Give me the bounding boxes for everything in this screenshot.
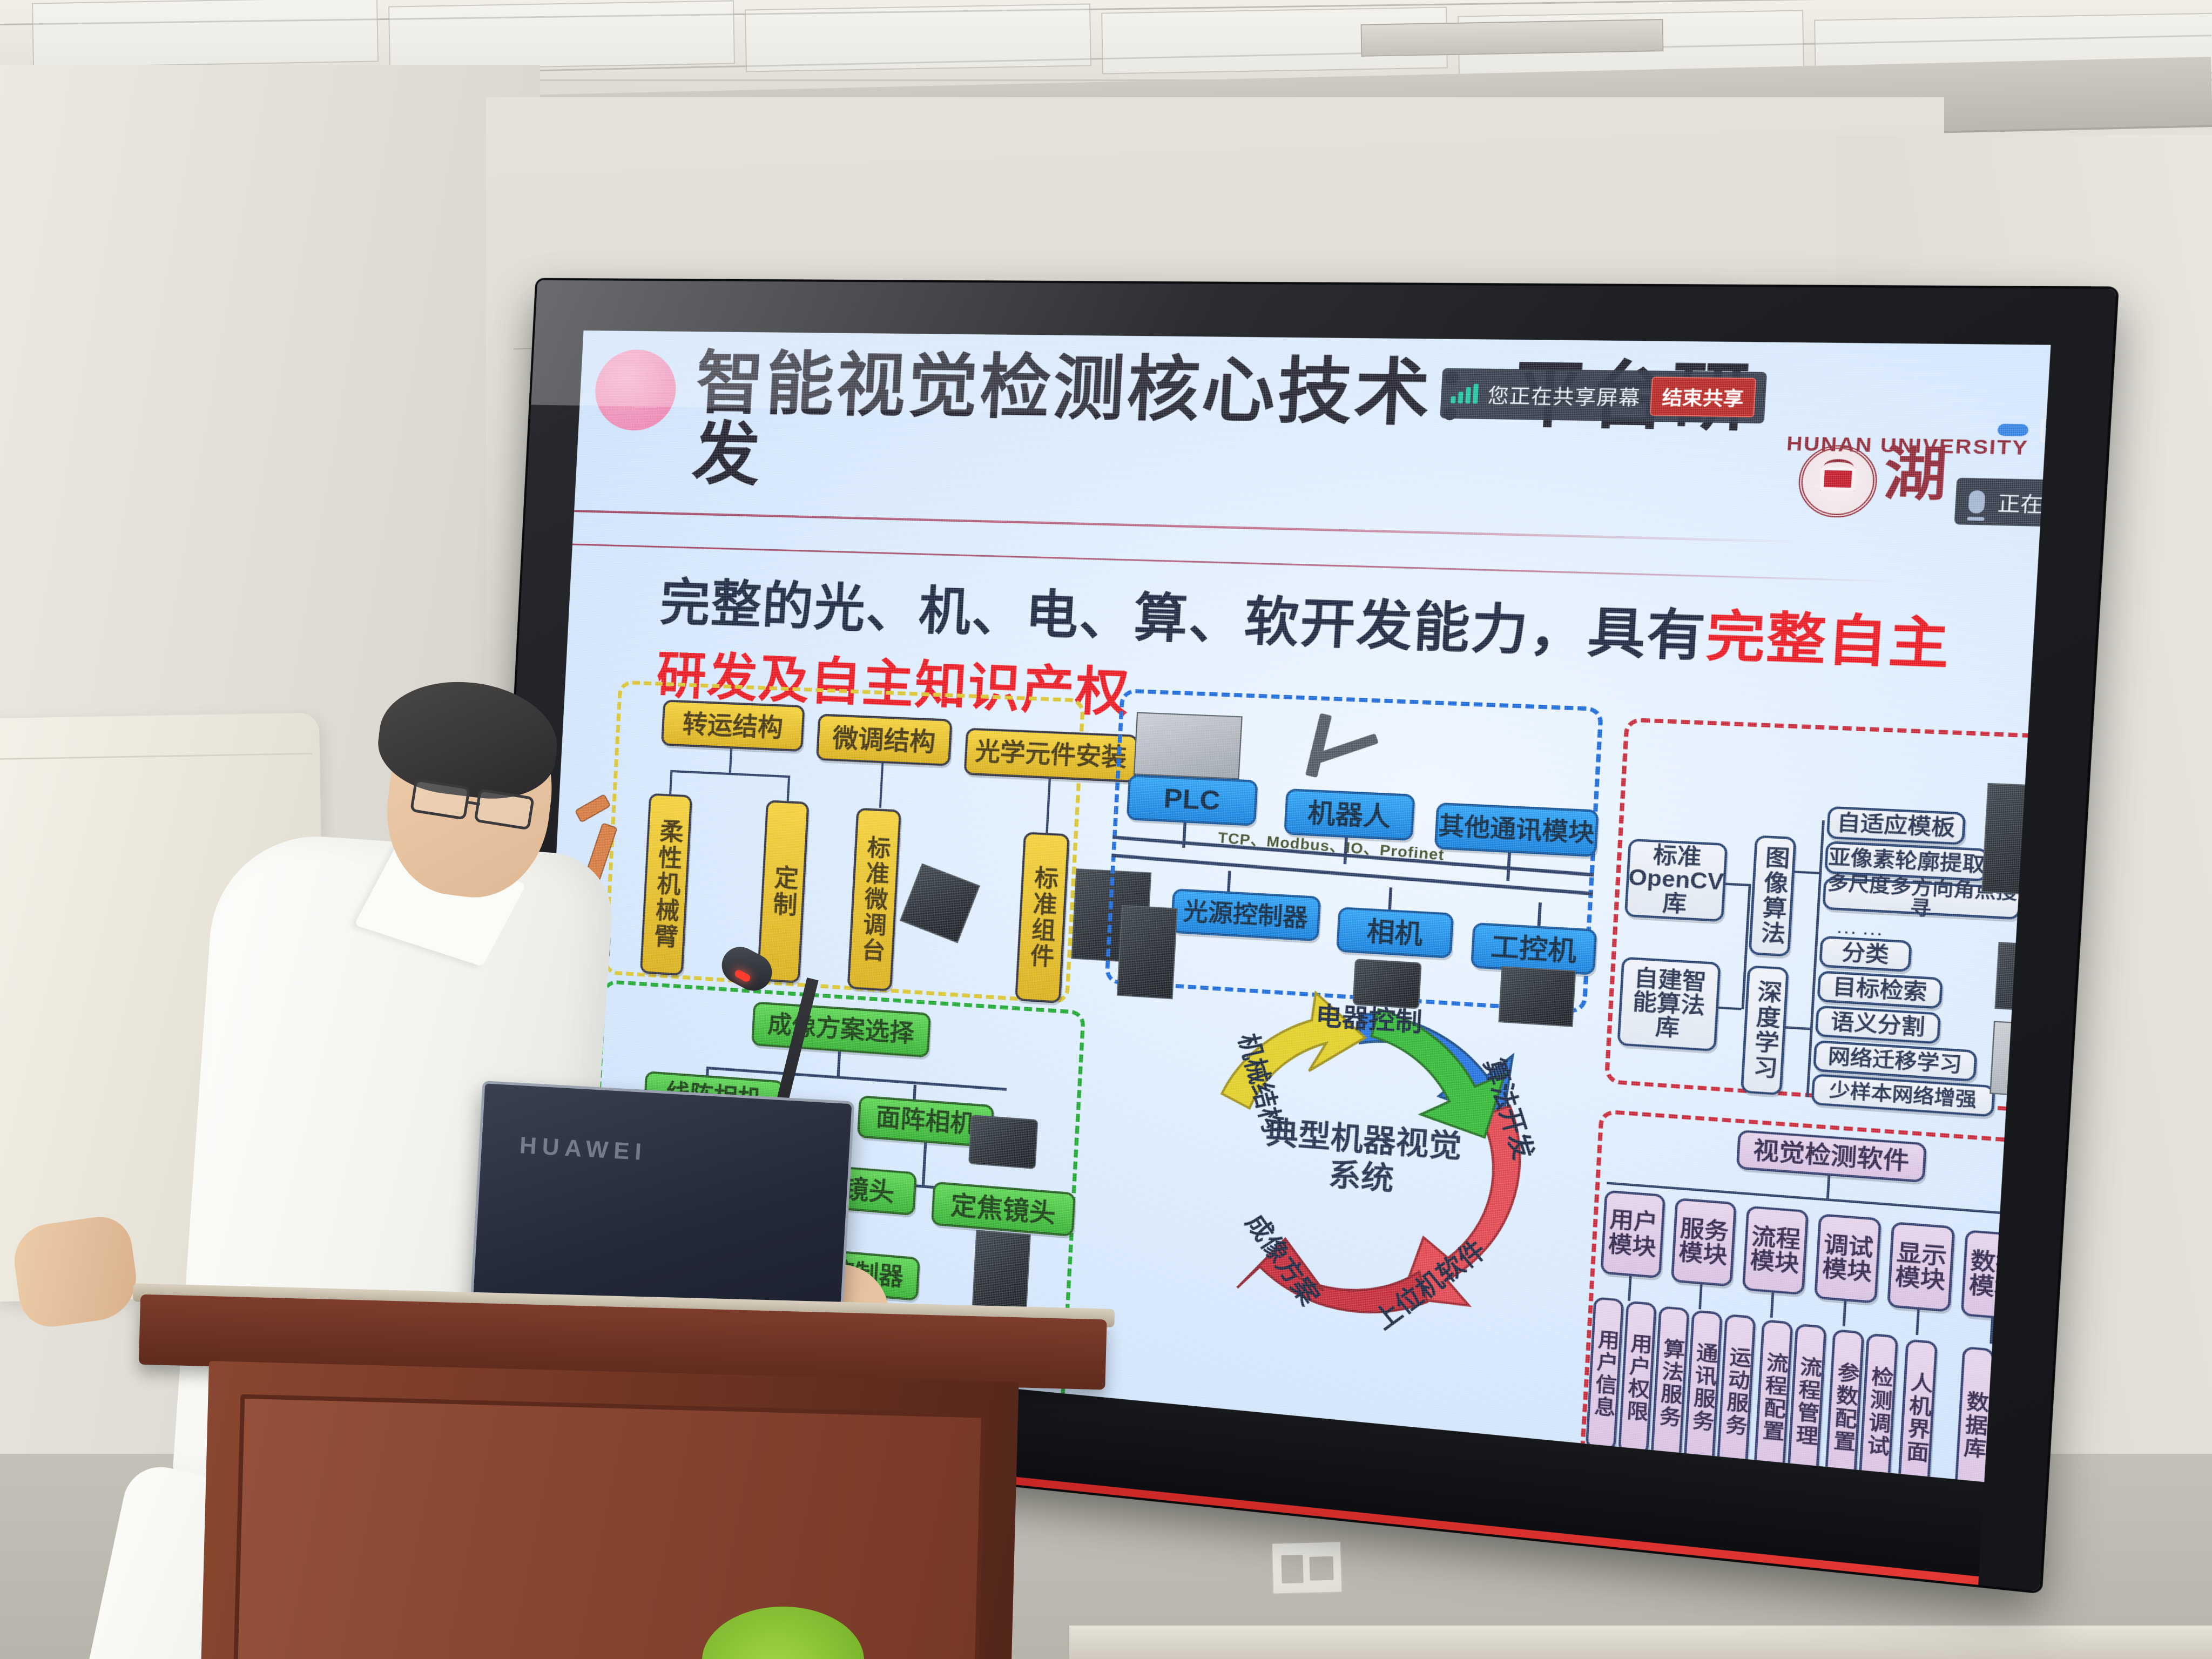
plc-device-photo xyxy=(1134,712,1243,780)
node-elec-sub-0[interactable]: 光源控制器 xyxy=(1170,888,1321,941)
cycle-label-0: 电器控制 xyxy=(1315,995,1424,1039)
air-vent xyxy=(1361,19,1664,57)
node-module-1[interactable]: 服务模块 xyxy=(1671,1198,1737,1287)
lectern-body xyxy=(199,1361,1019,1659)
node-algo-0[interactable]: 自适应模板 xyxy=(1826,806,1966,845)
cycle-center-label: 典型机器视觉系统 xyxy=(1261,1115,1465,1204)
node-module-4[interactable]: 显示模块 xyxy=(1887,1222,1955,1312)
lectern-front-panel xyxy=(232,1394,986,1659)
ceiling-panel xyxy=(388,0,735,70)
title-divider xyxy=(574,510,1804,543)
node-module-0[interactable]: 用户模块 xyxy=(1600,1190,1665,1279)
side-table xyxy=(1069,1626,2212,1659)
node-elec-top-0[interactable]: PLC xyxy=(1127,774,1258,826)
machine-vision-cycle-diagram: 典型机器视觉系统 电器控制 算法开发 上位机软件 成像方案 机械结构 xyxy=(1162,963,1569,1362)
node-elec-sub-1[interactable]: 相机 xyxy=(1336,907,1454,959)
node-lib-opencv-label: 标准 OpenCV库 xyxy=(1627,842,1726,919)
node-lib-opencv[interactable]: 标准 OpenCV库 xyxy=(1624,839,1728,922)
ceiling-panel xyxy=(745,3,1091,72)
node-lib-custom[interactable]: 自建智能算法库 xyxy=(1617,957,1721,1052)
microphone-icon xyxy=(1968,490,1985,513)
lens-photo xyxy=(972,1230,1031,1313)
laptop-brand-label: HUAWEI xyxy=(519,1132,648,1166)
display-glare xyxy=(531,280,2116,430)
brand-name-en: HUNAN UNIVERSITY xyxy=(1786,433,2029,461)
node-mech-sub-3[interactable]: 标准组件 xyxy=(1015,832,1070,1003)
node-elec-sub-2[interactable]: 工控机 xyxy=(1471,922,1597,975)
ceiling-panel xyxy=(32,0,379,68)
node-module-2[interactable]: 流程模块 xyxy=(1742,1205,1809,1295)
node-dl-0[interactable]: 分类 xyxy=(1819,936,1912,973)
lectern xyxy=(130,1294,1107,1659)
area-camera-photo xyxy=(968,1115,1038,1169)
wall-socket xyxy=(1271,1541,1343,1594)
active-speaker-indicator: 正在讲话: xyxy=(1954,478,2051,528)
node-branch-image-algo[interactable]: 图像算法 xyxy=(1749,835,1797,956)
node-lib-custom-label: 自建智能算法库 xyxy=(1620,966,1718,1043)
node-elec-top-2[interactable]: 其他通讯模块 xyxy=(1434,802,1599,857)
node-mech-top-2[interactable]: 光学元件安装 xyxy=(963,727,1138,783)
node-module-3[interactable]: 调试模块 xyxy=(1814,1213,1881,1304)
lecture-room: 智能视觉检测核心技术：平台研发 完整的光、机、电、算、软开发能力，具有完整自主研… xyxy=(0,0,2212,1659)
light-controller-photo xyxy=(1117,905,1178,1000)
node-branch-deep-learning[interactable]: 深度学习 xyxy=(1741,965,1789,1095)
